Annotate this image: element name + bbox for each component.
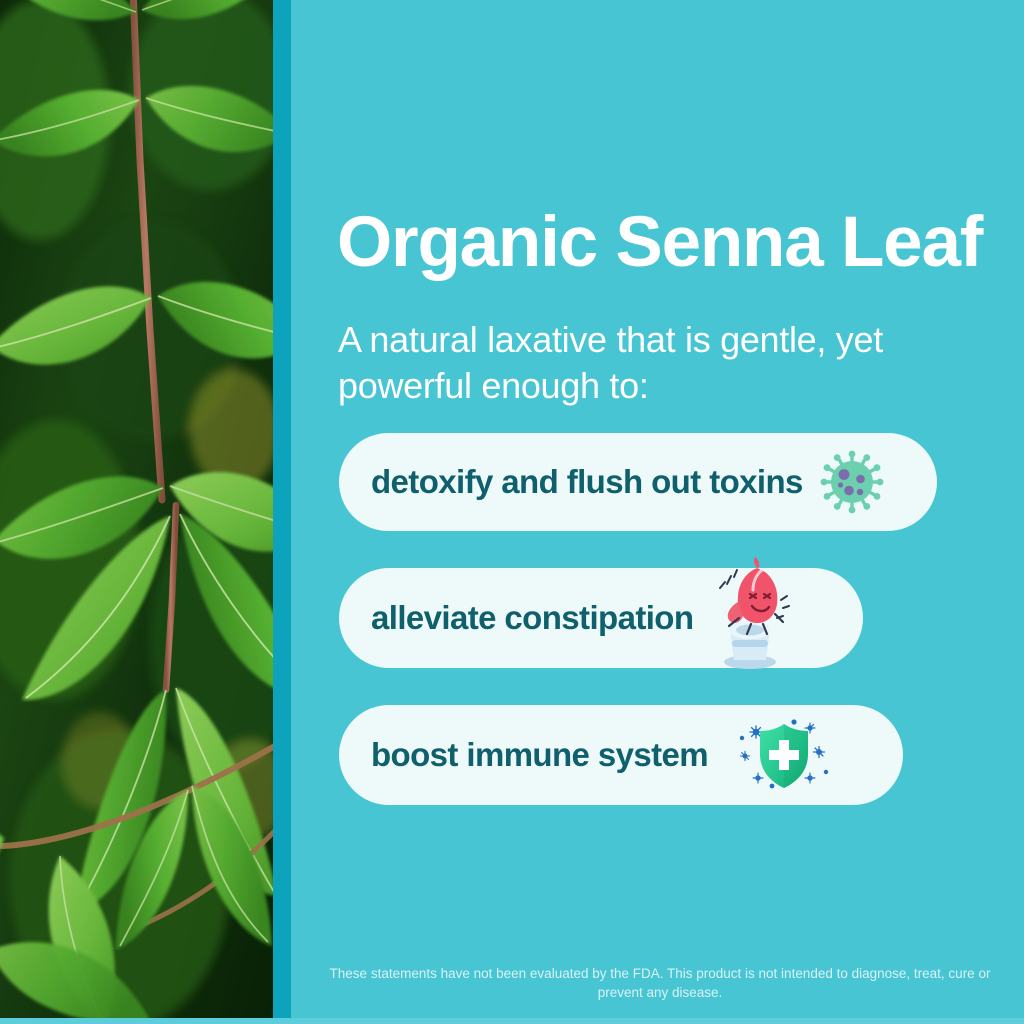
page-subtitle: A natural laxative that is gentle, yet p…	[338, 317, 948, 408]
senna-leaf-photo	[0, 0, 273, 1018]
benefit-pill-constipation[interactable]: alleviate constipation	[339, 568, 863, 668]
promo-graphic-canvas: Organic Senna Leaf A natural laxative th…	[0, 0, 1024, 1024]
benefit-pill-immune[interactable]: boost immune system	[339, 705, 903, 805]
shield-cross-icon	[738, 716, 830, 794]
leaf-photo-illustration	[0, 0, 273, 1018]
vertical-divider	[273, 0, 291, 1018]
content-panel: Organic Senna Leaf A natural laxative th…	[291, 0, 1024, 1018]
bottom-accent-strip	[0, 1018, 1024, 1024]
benefit-pill-detoxify[interactable]: detoxify and flush out toxins	[339, 433, 937, 531]
virus-icon	[819, 449, 885, 515]
stomach-toilet-icon	[705, 556, 791, 672]
page-title: Organic Senna Leaf	[337, 206, 1017, 281]
benefit-label: boost immune system	[371, 736, 708, 774]
benefit-label: alleviate constipation	[371, 599, 693, 637]
fda-disclaimer: These statements have not been evaluated…	[327, 964, 993, 1003]
benefit-label: detoxify and flush out toxins	[371, 463, 803, 501]
